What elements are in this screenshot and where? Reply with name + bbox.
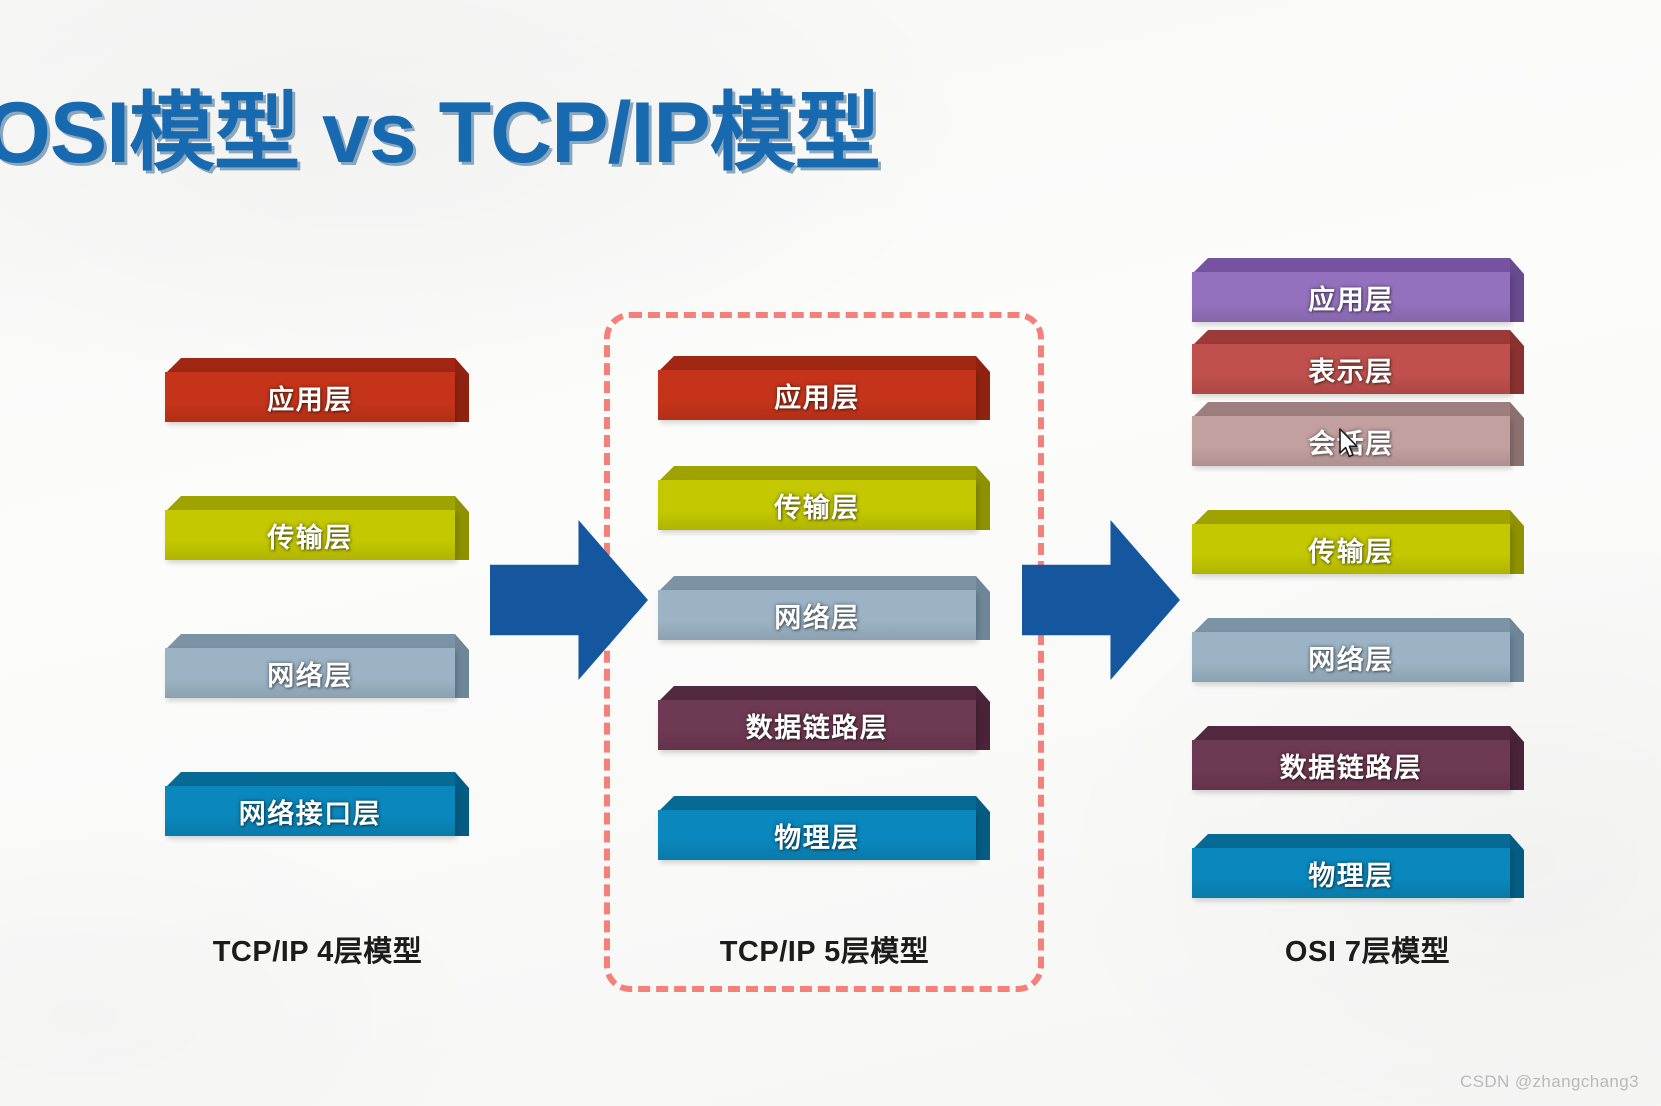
layer-block-label: 传输层 <box>658 480 976 530</box>
layer-block-label: 应用层 <box>165 372 455 422</box>
layer-block-side-face <box>1510 330 1524 394</box>
layer-block-side-face <box>1510 510 1524 574</box>
layer-block-label: 数据链路层 <box>658 700 976 750</box>
layer-block-tcpip4-1[interactable]: 传输层 <box>165 496 455 560</box>
layer-block-side-face <box>455 772 469 836</box>
column-label-tcpip4: TCP/IP 4层模型 <box>165 928 470 970</box>
layer-block-label: 传输层 <box>1192 524 1510 574</box>
layer-block-tcpip5-3[interactable]: 数据链路层 <box>658 686 976 750</box>
column-label-osi7: OSI 7层模型 <box>1215 928 1520 970</box>
layer-block-label: 会话层 <box>1192 416 1510 466</box>
watermark: CSDN @zhangchang3 <box>1460 1072 1639 1092</box>
layer-block-label: 网络层 <box>1192 632 1510 682</box>
layer-block-osi7-0[interactable]: 应用层 <box>1192 258 1510 322</box>
layer-block-tcpip4-2[interactable]: 网络层 <box>165 634 455 698</box>
layer-block-osi7-1[interactable]: 表示层 <box>1192 330 1510 394</box>
column-label-tcpip5: TCP/IP 5层模型 <box>672 928 977 970</box>
layer-block-side-face <box>455 358 469 422</box>
layer-block-label: 网络层 <box>165 648 455 698</box>
layer-block-label: 物理层 <box>1192 848 1510 898</box>
layer-block-tcpip5-4[interactable]: 物理层 <box>658 796 976 860</box>
layer-block-tcpip4-0[interactable]: 应用层 <box>165 358 455 422</box>
layer-block-osi7-6[interactable]: 物理层 <box>1192 834 1510 898</box>
layer-block-label: 传输层 <box>165 510 455 560</box>
layer-block-tcpip5-1[interactable]: 传输层 <box>658 466 976 530</box>
layer-block-side-face <box>1510 402 1524 466</box>
layer-block-side-face <box>1510 726 1524 790</box>
page-title: OSI模型 vs TCP/IP模型 <box>0 62 880 187</box>
layer-block-side-face <box>455 634 469 698</box>
layer-block-label: 表示层 <box>1192 344 1510 394</box>
layer-block-osi7-5[interactable]: 数据链路层 <box>1192 726 1510 790</box>
layer-block-label: 应用层 <box>658 370 976 420</box>
layer-block-tcpip4-3[interactable]: 网络接口层 <box>165 772 455 836</box>
layer-block-osi7-4[interactable]: 网络层 <box>1192 618 1510 682</box>
layer-block-side-face <box>455 496 469 560</box>
layer-block-tcpip5-2[interactable]: 网络层 <box>658 576 976 640</box>
layer-block-label: 数据链路层 <box>1192 740 1510 790</box>
layer-block-label: 网络层 <box>658 590 976 640</box>
layer-block-side-face <box>1510 618 1524 682</box>
layer-block-side-face <box>1510 258 1524 322</box>
layer-block-label: 应用层 <box>1192 272 1510 322</box>
layer-block-tcpip5-0[interactable]: 应用层 <box>658 356 976 420</box>
layer-block-label: 网络接口层 <box>165 786 455 836</box>
layer-block-label: 物理层 <box>658 810 976 860</box>
layer-block-side-face <box>1510 834 1524 898</box>
layer-block-osi7-2[interactable]: 会话层 <box>1192 402 1510 466</box>
arrow-tcpip5-to-osi7 <box>1022 520 1180 680</box>
layer-block-osi7-3[interactable]: 传输层 <box>1192 510 1510 574</box>
